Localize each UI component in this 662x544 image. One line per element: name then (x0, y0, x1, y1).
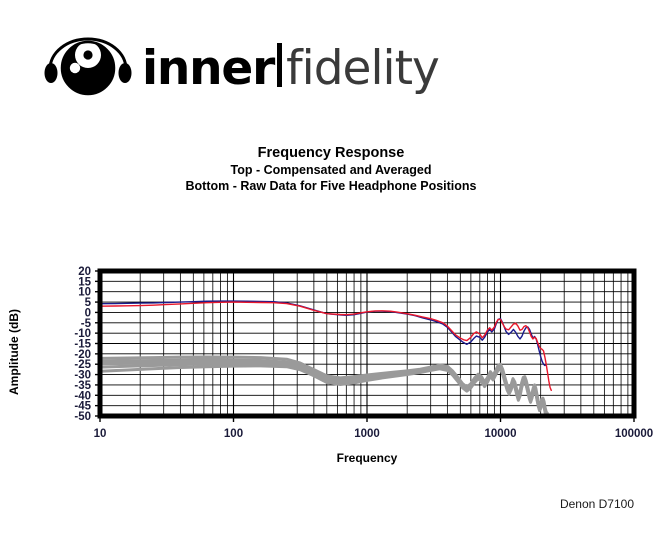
chart-title-block: Frequency Response Top - Compensated and… (0, 145, 662, 194)
yinyang-headphones-icon (44, 35, 132, 97)
chart-subtitle-top: Top - Compensated and Averaged (0, 162, 662, 178)
brand-header: inner fidelity (44, 33, 439, 99)
frequency-response-chart: Frequency Response Top - Compensated and… (0, 145, 662, 495)
brand-divider-bar (277, 43, 282, 87)
chart-tick-marks (95, 271, 634, 422)
chart-series-layer (100, 301, 551, 416)
y-tick-label: -50 (74, 411, 91, 423)
x-tick-label: 1000 (354, 428, 380, 440)
x-tick-label: 10000 (485, 428, 517, 440)
chart-y-axis-title: Amplitude (dB) (7, 309, 21, 395)
brand-wordmark: inner fidelity (142, 40, 439, 92)
chart-x-axis-title: Frequency (337, 451, 398, 465)
brand-word-fidelity: fidelity (286, 45, 439, 92)
figure-caption: Denon D7100 (560, 497, 634, 511)
chart-subtitle-bottom: Bottom - Raw Data for Five Headphone Pos… (0, 178, 662, 194)
x-tick-label: 10 (94, 428, 107, 440)
x-tick-label: 100 (224, 428, 243, 440)
brand-word-inner: inner (142, 45, 274, 92)
chart-x-tick-labels: 10100100010000100000 (94, 428, 654, 440)
x-tick-label: 100000 (615, 428, 653, 440)
chart-y-tick-labels: 20151050-5-10-15-20-25-30-35-40-45-50 (74, 266, 91, 423)
chart-title: Frequency Response (0, 145, 662, 162)
chart-plot-area: 20151050-5-10-15-20-25-30-35-40-45-50 10… (0, 194, 662, 479)
